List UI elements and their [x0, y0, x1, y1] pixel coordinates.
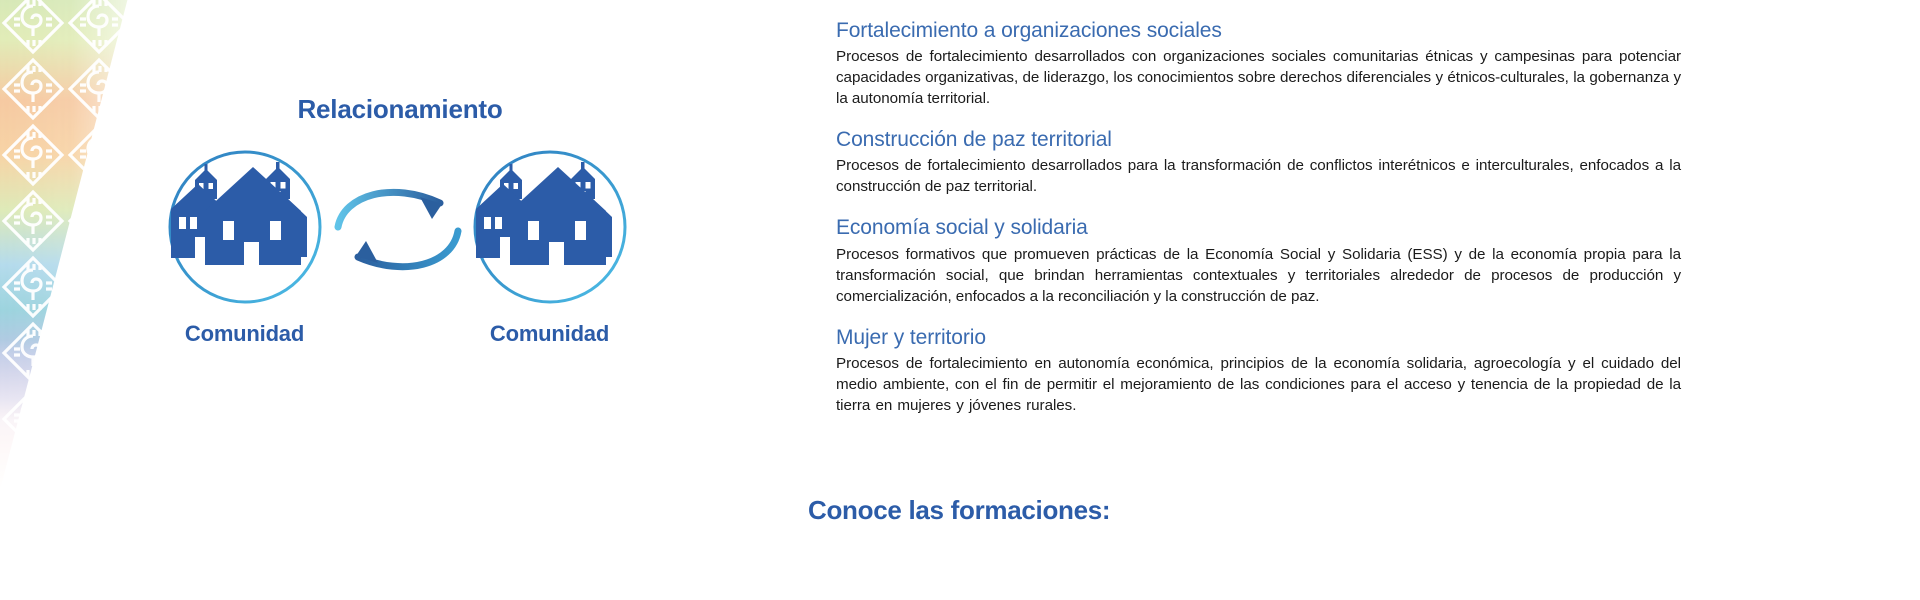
- topic-mujer-y-territorio: Mujer y territorio Procesos de fortaleci…: [836, 325, 1681, 417]
- houses-cluster-left: [171, 162, 307, 265]
- topic-construccion-de-paz-territorial: Construcción de paz territorial Procesos…: [836, 127, 1681, 198]
- community-circle-left: [165, 147, 325, 307]
- topic-economia-social-y-solidaria: Economía social y solidaria Procesos for…: [836, 215, 1681, 307]
- relacionamiento-title: Relacionamiento: [150, 70, 650, 125]
- community-label-right: Comunidad: [467, 321, 632, 347]
- topic-body: Procesos de fortalecimiento desarrollado…: [836, 156, 1681, 198]
- community-circle-right: [470, 147, 630, 307]
- topic-heading: Mujer y territorio: [836, 325, 1681, 351]
- community-label-left: Comunidad: [162, 321, 327, 347]
- houses-cluster-right: [476, 162, 612, 265]
- topic-body: Procesos de fortalecimiento desarrollado…: [836, 47, 1681, 110]
- topic-fortalecimiento-organizaciones-sociales: Fortalecimiento a organizaciones sociale…: [836, 18, 1681, 110]
- topic-heading: Fortalecimiento a organizaciones sociale…: [836, 18, 1681, 44]
- topics-list: Fortalecimiento a organizaciones sociale…: [836, 18, 1681, 417]
- relacionamiento-diagram: Relacionamiento: [150, 70, 650, 370]
- exchange-arrows-icon: [330, 175, 470, 285]
- community-group-left: Comunidad: [162, 147, 327, 347]
- community-exchange-diagram: Comunidad: [150, 147, 650, 327]
- topic-body: Procesos formativos que promueven prácti…: [836, 245, 1681, 308]
- topic-heading: Economía social y solidaria: [836, 215, 1681, 241]
- decorative-ethnic-pattern: [0, 0, 170, 490]
- topic-heading: Construcción de paz territorial: [836, 127, 1681, 153]
- conoce-las-formaciones-heading: Conoce las formaciones:: [808, 495, 1110, 526]
- topic-body: Procesos de fortalecimiento en autonomía…: [836, 354, 1681, 417]
- community-group-right: Comunidad: [467, 147, 632, 347]
